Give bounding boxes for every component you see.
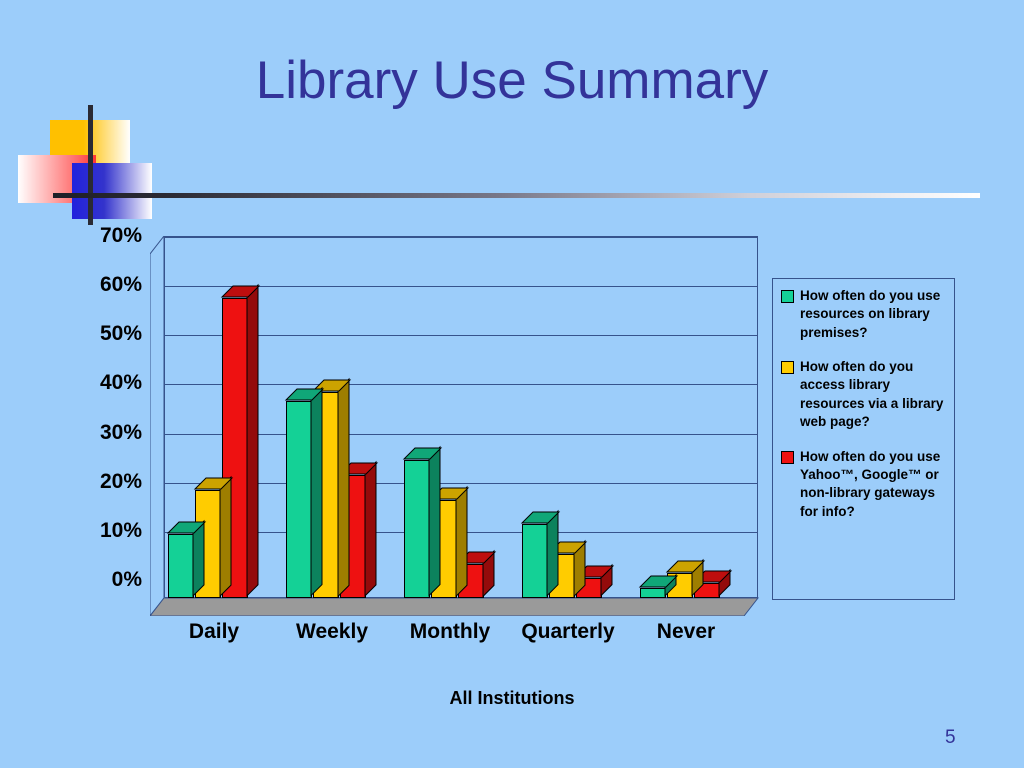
bar-series-container xyxy=(150,236,770,616)
bar-group-monthly xyxy=(404,254,496,598)
bar-front-face xyxy=(404,460,430,598)
y-axis-tick-20: 20% xyxy=(72,470,142,494)
x-axis-tick-monthly: Monthly xyxy=(410,620,490,644)
legend-swatch-icon xyxy=(781,290,794,303)
x-axis-label: All Institutions xyxy=(0,688,1024,709)
y-axis-tick-0: 0% xyxy=(72,568,142,592)
y-axis-tick-labels: 0%10%20%30%40%50%60%70% xyxy=(72,236,142,616)
decorative-corner-motif xyxy=(10,105,980,230)
legend-item-3[interactable]: How often do you use Yahoo™, Google™ or … xyxy=(781,448,948,521)
page-title: Library Use Summary xyxy=(0,52,1024,110)
bar-daily-series-1 xyxy=(168,534,194,598)
bar-group-never xyxy=(640,254,732,598)
chart-legend: How often do you use resources on librar… xyxy=(772,278,955,600)
x-axis-tick-weekly: Weekly xyxy=(296,620,368,644)
legend-item-2[interactable]: How often do you access library resource… xyxy=(781,358,948,431)
legend-item-1[interactable]: How often do you use resources on librar… xyxy=(781,287,948,342)
bar-quarterly-series-1 xyxy=(522,524,548,598)
blue-gradient-square xyxy=(72,163,152,219)
bar-group-daily xyxy=(168,254,260,598)
legend-label: How often do you use Yahoo™, Google™ or … xyxy=(800,448,948,521)
y-axis-tick-40: 40% xyxy=(72,371,142,395)
horizontal-rule xyxy=(53,193,980,198)
y-axis-tick-50: 50% xyxy=(72,322,142,346)
x-axis-tick-quarterly: Quarterly xyxy=(521,620,614,644)
y-axis-tick-60: 60% xyxy=(72,273,142,297)
x-axis-tick-never: Never xyxy=(657,620,715,644)
bar-group-quarterly xyxy=(522,254,614,598)
bar-front-face xyxy=(522,524,548,598)
bar-front-face xyxy=(640,588,666,598)
y-axis-tick-70: 70% xyxy=(72,224,142,248)
bar-front-face xyxy=(168,534,194,598)
bar-front-face xyxy=(286,401,312,598)
y-axis-tick-30: 30% xyxy=(72,421,142,445)
x-axis-tick-labels: DailyWeeklyMonthlyQuarterlyNever xyxy=(150,620,770,650)
bar-weekly-series-1 xyxy=(286,401,312,598)
vertical-rule xyxy=(88,105,93,225)
y-axis-tick-10: 10% xyxy=(72,519,142,543)
bar-chart: 0%10%20%30%40%50%60%70% DailyWeeklyMonth… xyxy=(150,236,770,616)
bar-never-series-1 xyxy=(640,588,666,598)
x-axis-tick-daily: Daily xyxy=(189,620,239,644)
legend-label: How often do you use resources on librar… xyxy=(800,287,948,342)
legend-swatch-icon xyxy=(781,451,794,464)
bar-monthly-series-1 xyxy=(404,460,430,598)
bar-group-weekly xyxy=(286,254,378,598)
legend-swatch-icon xyxy=(781,361,794,374)
page-number: 5 xyxy=(945,727,956,749)
legend-label: How often do you access library resource… xyxy=(800,358,948,431)
